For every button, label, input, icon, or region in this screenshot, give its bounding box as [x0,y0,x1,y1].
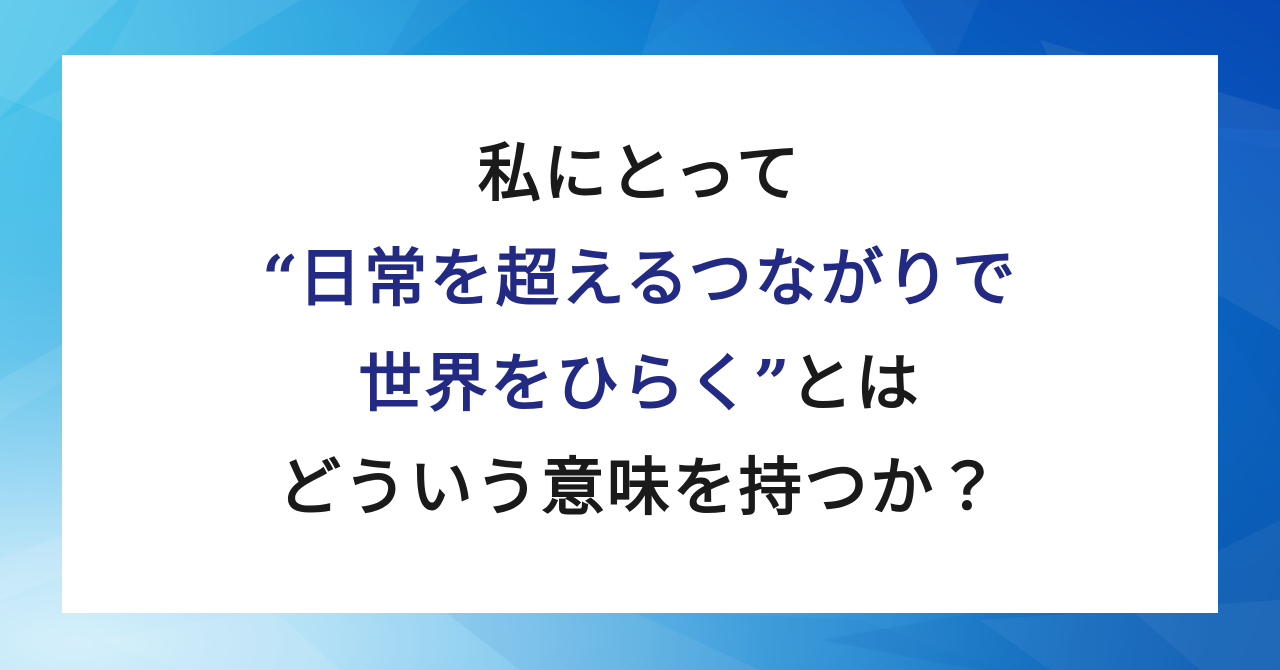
quote-line-2: “日常を超えるつながりで [62,226,1218,331]
quote-line-1: 私にとって [62,122,1218,226]
quote-line-2-text: 日常を超えるつながりで [298,242,1018,315]
quote-line-3: 世界をひらく”とは [62,331,1218,436]
quote-line-3-tail: とは [790,347,922,420]
quote-text-block: 私にとって “日常を超えるつながりで 世界をひらく”とは どういう意味を持つか？ [62,122,1218,546]
content-card: 私にとって “日常を超えるつながりで 世界をひらく”とは どういう意味を持つか？ [62,55,1218,613]
quote-line-4: どういう意味を持つか？ [62,436,1218,540]
quote-line-1-text: 私にとって [478,137,802,210]
slide-root: 私にとって “日常を超えるつながりで 世界をひらく”とは どういう意味を持つか？ [0,0,1280,670]
quote-line-4-text: どういう意味を持つか？ [278,451,1002,524]
quote-line-3-text: 世界をひらく [359,347,754,420]
opening-quotation-mark-icon: “ [262,241,298,315]
closing-quotation-mark-icon: ” [754,346,790,420]
